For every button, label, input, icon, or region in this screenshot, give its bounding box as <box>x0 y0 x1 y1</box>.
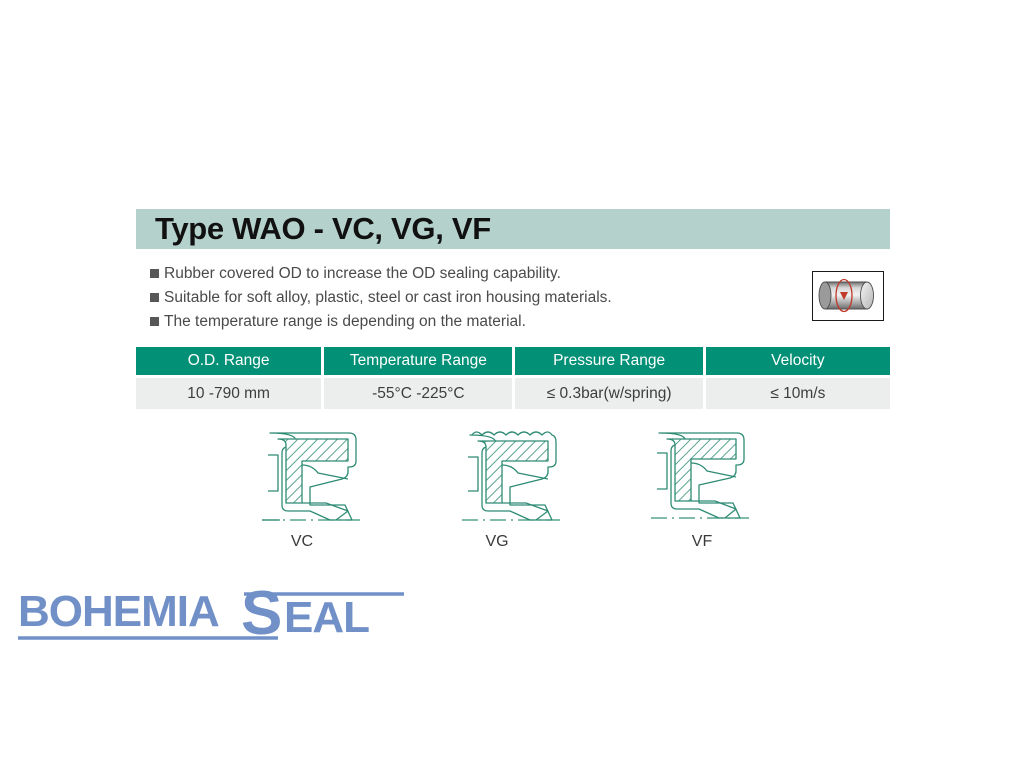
table-header-row: O.D. Range Temperature Range Pressure Ra… <box>136 347 890 375</box>
seal-cross-section-vg <box>452 425 567 530</box>
column-header-pressure-range: Pressure Range <box>515 347 702 375</box>
list-item: Suitable for soft alloy, plastic, steel … <box>150 287 810 311</box>
slide-page: Type WAO - VC, VG, VF Rubber covered OD … <box>0 0 1024 768</box>
title-band: Type WAO - VC, VG, VF <box>136 209 890 249</box>
square-bullet-icon <box>150 317 159 326</box>
seal-cross-section-vc <box>252 425 367 530</box>
list-item-label: The temperature range is depending on th… <box>164 311 526 333</box>
table-row: 10 -790 mm -55°C -225°C ≤ 0.3bar(w/sprin… <box>136 378 890 409</box>
cell-od-range: 10 -790 mm <box>136 378 321 409</box>
spec-table: O.D. Range Temperature Range Pressure Ra… <box>136 347 890 409</box>
diagram-label-vc: VC <box>262 533 342 551</box>
rotating-shaft-icon <box>813 272 882 319</box>
diagram-label-vf: VF <box>662 533 742 551</box>
company-logo: BOHEMIA S EAL <box>16 586 416 648</box>
square-bullet-icon <box>150 269 159 278</box>
list-item: The temperature range is depending on th… <box>150 311 810 335</box>
page-title: Type WAO - VC, VG, VF <box>136 211 491 247</box>
column-header-velocity: Velocity <box>706 347 890 375</box>
cell-temperature-range: -55°C -225°C <box>324 378 512 409</box>
logo-word-bohemia: BOHEMIA <box>18 587 219 636</box>
column-header-temperature-range: Temperature Range <box>324 347 512 375</box>
feature-list: Rubber covered OD to increase the OD sea… <box>150 263 810 335</box>
list-item-label: Rubber covered OD to increase the OD sea… <box>164 263 561 285</box>
column-header-od-range: O.D. Range <box>136 347 321 375</box>
cell-velocity: ≤ 10m/s <box>706 378 890 409</box>
product-thumbnail <box>812 271 884 321</box>
logo-word-eal: EAL <box>284 593 369 642</box>
list-item-label: Suitable for soft alloy, plastic, steel … <box>164 287 612 309</box>
seal-cross-section-vf <box>645 425 760 530</box>
square-bullet-icon <box>150 293 159 302</box>
list-item: Rubber covered OD to increase the OD sea… <box>150 263 810 287</box>
cell-pressure-range: ≤ 0.3bar(w/spring) <box>515 378 702 409</box>
diagram-label-vg: VG <box>457 533 537 551</box>
